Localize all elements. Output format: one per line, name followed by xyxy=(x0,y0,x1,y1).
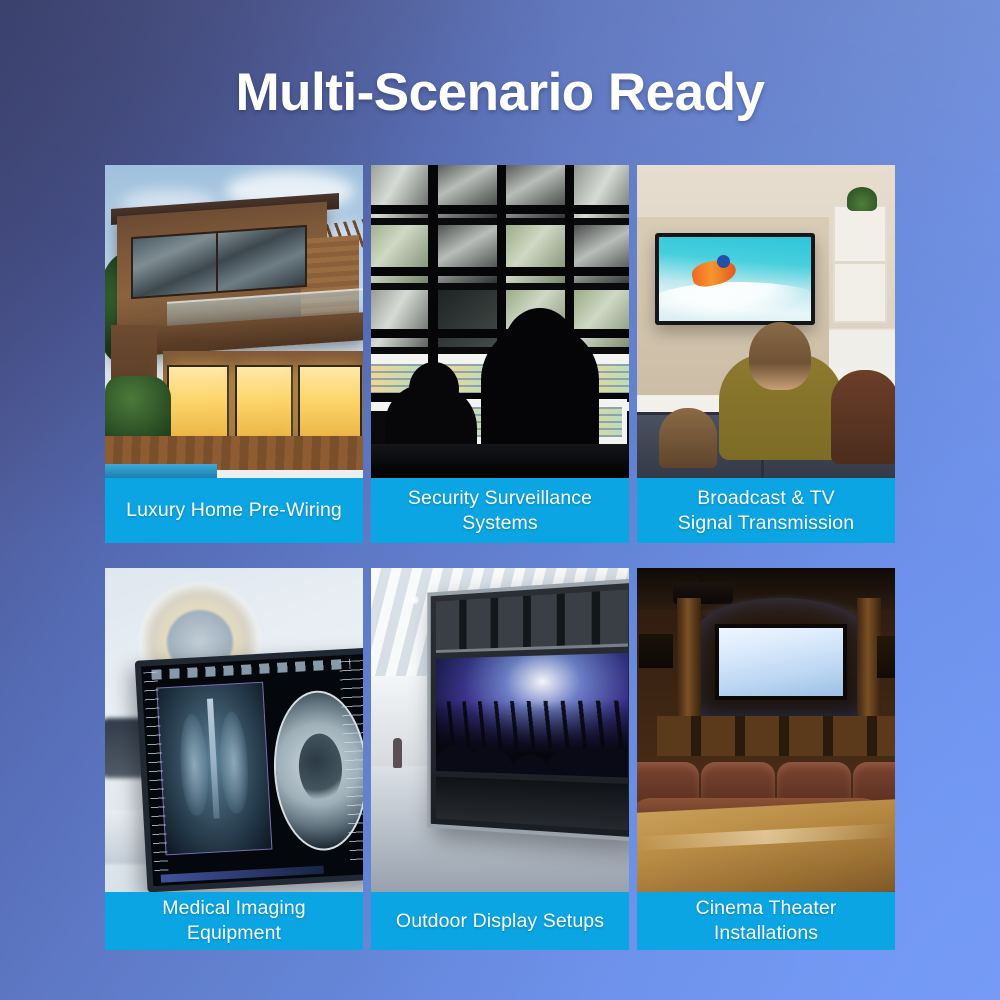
scenario-image-security-surveillance xyxy=(371,165,629,478)
promo-page: Multi-Scenario Ready xyxy=(0,0,1000,1000)
child-viewer xyxy=(659,408,717,468)
speaker xyxy=(877,636,895,678)
scenario-caption: Cinema Theater Installations xyxy=(637,892,895,950)
projection-screen xyxy=(715,624,847,700)
lower-wall-panels xyxy=(657,716,895,756)
wall-shelf xyxy=(833,205,887,323)
swimming-pool xyxy=(105,464,217,478)
wave xyxy=(659,282,811,321)
scenario-image-luxury-home xyxy=(105,165,363,478)
scenario-caption: Security Surveillance Systems xyxy=(371,478,629,543)
upper-window xyxy=(131,225,307,299)
rack-frame xyxy=(371,205,629,214)
operator-head xyxy=(409,362,459,416)
scenario-image-broadcast-tv xyxy=(637,165,895,478)
led-screen xyxy=(436,653,628,778)
diagnostic-monitor xyxy=(135,648,363,892)
toolbar-strip xyxy=(151,659,350,680)
lit-window xyxy=(298,365,362,447)
second-adult-viewer xyxy=(831,370,895,464)
monitor xyxy=(371,290,428,347)
adult-viewer-head xyxy=(749,322,811,390)
control-desk xyxy=(371,444,629,478)
scenario-card-medical-imaging[interactable]: Medical Imaging Equipment xyxy=(105,568,363,950)
statusbar-strip xyxy=(161,866,324,883)
scenario-card-luxury-home[interactable]: Luxury Home Pre-Wiring xyxy=(105,165,363,543)
scenario-image-cinema-theater xyxy=(637,568,895,892)
plant xyxy=(847,187,877,211)
led-video-wall xyxy=(427,579,629,842)
monitor xyxy=(435,290,498,347)
ceiling-light xyxy=(411,596,419,604)
operator-head xyxy=(504,308,576,386)
tv-screen xyxy=(659,237,811,321)
scenario-image-outdoor-display xyxy=(371,568,629,892)
wall-panel xyxy=(639,634,673,668)
lit-window xyxy=(235,365,293,447)
scenario-card-broadcast-tv[interactable]: Broadcast & TV Signal Transmission xyxy=(637,165,895,543)
scenario-caption: Medical Imaging Equipment xyxy=(105,892,363,950)
vent-panel xyxy=(436,590,628,653)
scenario-card-outdoor-display[interactable]: Outdoor Display Setups xyxy=(371,568,629,950)
wall-mounted-tv xyxy=(655,233,815,325)
page-title: Multi-Scenario Ready xyxy=(0,62,1000,123)
scenario-caption: Outdoor Display Setups xyxy=(371,892,629,950)
passenger xyxy=(393,738,402,768)
rack-frame xyxy=(371,267,629,276)
cabinet-base xyxy=(436,777,628,831)
monitor xyxy=(574,290,629,347)
scenario-card-cinema-theater[interactable]: Cinema Theater Installations xyxy=(637,568,895,950)
chest-xray-image xyxy=(156,682,272,856)
scenario-caption: Luxury Home Pre-Wiring xyxy=(105,478,363,543)
scenario-grid: Luxury Home Pre-Wiring xyxy=(105,165,895,950)
scenario-caption: Broadcast & TV Signal Transmission xyxy=(637,478,895,543)
concert-crowd xyxy=(436,700,628,777)
spine xyxy=(207,699,220,819)
scenario-card-security-surveillance[interactable]: Security Surveillance Systems xyxy=(371,165,629,543)
monitor-screen xyxy=(141,654,363,886)
wood-column xyxy=(677,598,701,728)
scenario-image-medical-imaging xyxy=(105,568,363,892)
lit-window xyxy=(167,365,229,447)
